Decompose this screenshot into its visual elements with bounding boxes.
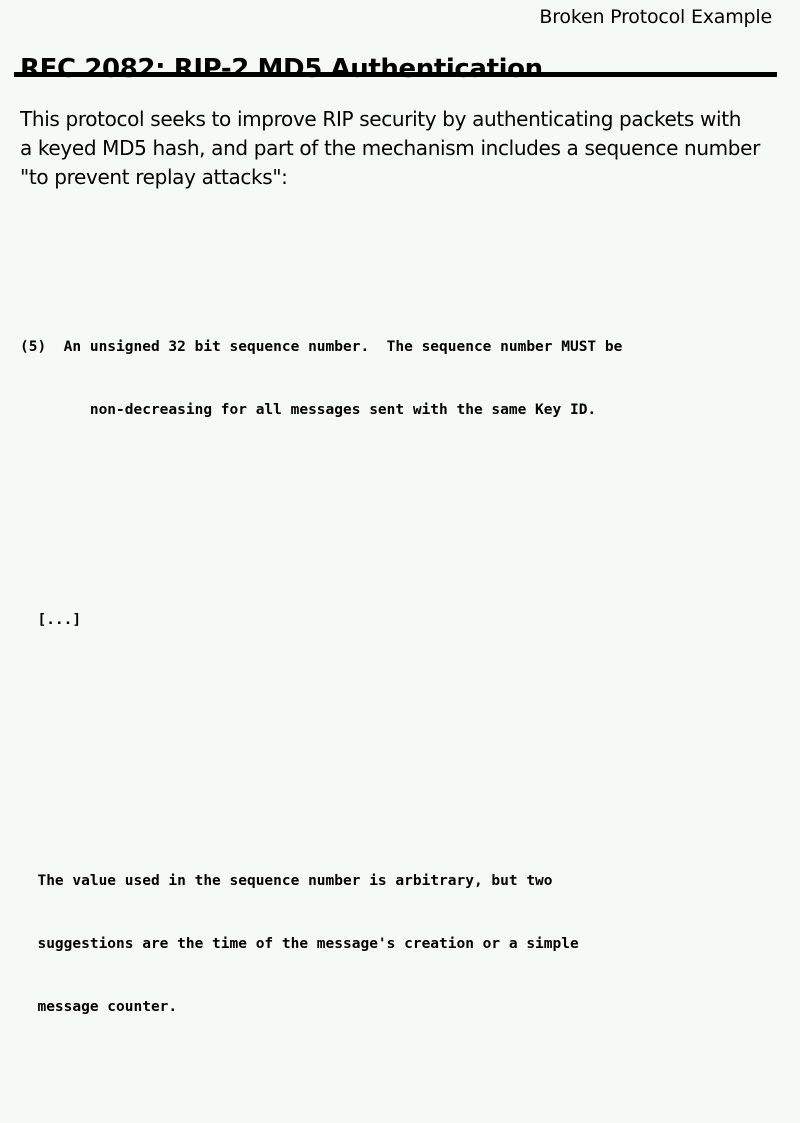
rfc-ellipsis: [...] xyxy=(20,610,780,631)
rfc-item-5: (5) An unsigned 32 bit sequence number. … xyxy=(20,295,780,463)
rfc-item-5-line-2: non-decreasing for all messages sent wit… xyxy=(20,400,780,421)
quote-spacer-3 xyxy=(20,757,780,766)
title-divider xyxy=(14,72,777,77)
rfc-paragraph: The value used in the sequence number is… xyxy=(20,829,780,1060)
intro-line-2: a keyed MD5 hash, and part of the mechan… xyxy=(20,134,776,163)
rfc-quote-block: (5) An unsigned 32 bit sequence number. … xyxy=(20,232,780,1123)
quote-spacer-1 xyxy=(20,526,780,547)
quote-spacer-2 xyxy=(20,694,780,715)
intro-line-1: This protocol seeks to improve RIP secur… xyxy=(20,105,776,134)
slide: Broken Protocol Example RFC 2082: RIP-2 … xyxy=(0,0,800,600)
page-title: RFC 2082: RIP-2 MD5 Authentication xyxy=(20,53,543,85)
rfc-paragraph-line-1: The value used in the sequence number is… xyxy=(20,871,780,892)
rfc-paragraph-line-3: message counter. xyxy=(20,997,780,1018)
rfc-paragraph-line-2: suggestions are the time of the message'… xyxy=(20,934,780,955)
intro-line-3: "to prevent replay attacks": xyxy=(20,163,776,192)
slide-kicker: Broken Protocol Example xyxy=(539,5,772,29)
intro-paragraph: This protocol seeks to improve RIP secur… xyxy=(20,105,776,192)
rfc-item-5-line-1: (5) An unsigned 32 bit sequence number. … xyxy=(20,337,780,358)
